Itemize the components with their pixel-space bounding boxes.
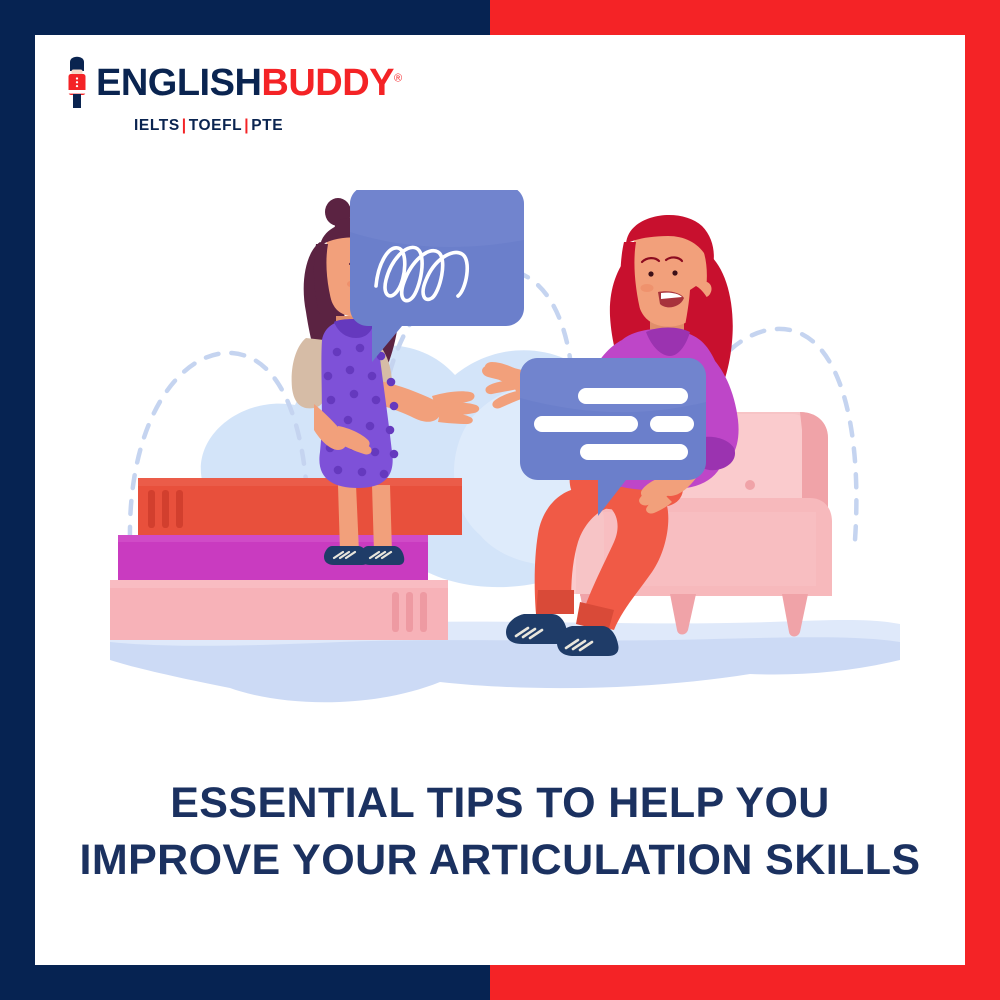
logo-row: ENGLISHBUDDY® xyxy=(62,52,362,110)
registered-trademark-icon: ® xyxy=(394,72,402,84)
logo-subtitle: IELTS|TOEFL|PTE xyxy=(134,117,362,135)
hero-illustration xyxy=(110,190,900,720)
book-top xyxy=(138,478,462,535)
page-title: ESSENTIAL TIPS TO HELP YOU IMPROVE YOUR … xyxy=(0,775,1000,889)
page-title-line-1: ESSENTIAL TIPS TO HELP YOU xyxy=(0,775,1000,832)
poster-canvas: ENGLISHBUDDY® IELTS|TOEFL|PTE xyxy=(0,0,1000,1000)
page-title-line-2: IMPROVE YOUR ARTICULATION SKILLS xyxy=(0,832,1000,889)
logo-subtitle-toefl: TOEFL xyxy=(189,117,243,134)
book-bottom xyxy=(110,580,448,640)
royal-guard-icon xyxy=(62,52,92,110)
scribble-bubble xyxy=(350,190,524,362)
logo-subtitle-pte: PTE xyxy=(251,117,283,134)
logo-subtitle-sep-2: | xyxy=(242,117,251,134)
logo-word-english: ENGLISH xyxy=(96,62,261,104)
logo-wordmark: ENGLISHBUDDY® xyxy=(96,64,402,102)
logo-subtitle-sep-1: | xyxy=(180,117,189,134)
logo-subtitle-ielts: IELTS xyxy=(134,117,180,134)
books-stack xyxy=(110,478,462,640)
brand-logo[interactable]: ENGLISHBUDDY® IELTS|TOEFL|PTE xyxy=(62,52,362,142)
logo-word-buddy: BUDDY xyxy=(261,62,394,104)
